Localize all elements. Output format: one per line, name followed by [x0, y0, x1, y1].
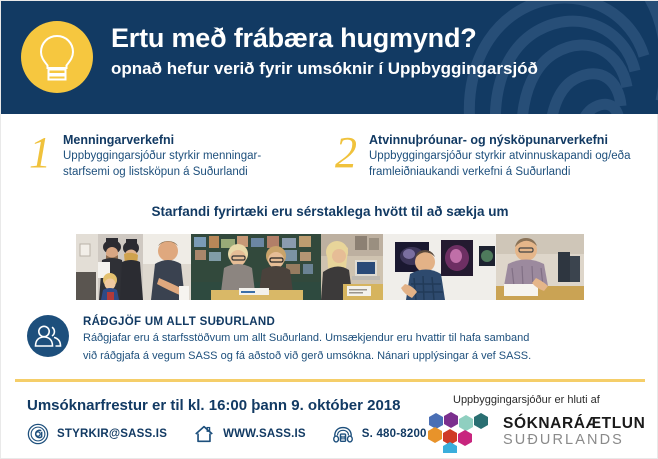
contact-phone[interactable]: S. 480-8200 [332, 423, 427, 445]
category-desc-line1: Uppbyggingarsjóður styrkir menningar- [63, 149, 261, 164]
at-sign-icon [27, 423, 49, 445]
advisory-section: RÁÐGJÖF UM ALLT SUÐURLAND Ráðgjafar eru … [27, 313, 627, 364]
category-item-menningarverkefni: 1 Menningarverkefni Uppbyggingarsjóður s… [29, 126, 329, 194]
partner-logo-block: Uppbyggingarsjóður er hluti af [427, 393, 637, 453]
advisory-line1: Ráðgjafar eru á starfsstöðvum um allt Su… [83, 331, 531, 346]
gold-divider [15, 379, 645, 382]
contact-row: STYRKIR@SASS.IS WWW.SASS.IS [27, 423, 453, 445]
logo-word-bottom: SUÐURLANDS [503, 432, 645, 449]
category-title: Atvinnuþróunar- og nýsköpunarverkefni [369, 132, 630, 148]
category-desc-line2: starfsemi og listsköpun á Suðurlandi [63, 165, 261, 180]
category-item-atvinnutroun: 2 Atvinnuþróunar- og nýsköpunarverkefni … [335, 126, 645, 194]
contact-website[interactable]: WWW.SASS.IS [193, 423, 306, 445]
header-title: Ertu með frábæra hugmynd? [111, 21, 651, 55]
category-number: 1 [29, 126, 63, 194]
contact-phone-label: S. 480-8200 [362, 428, 427, 440]
header-text-group: Ertu með frábæra hugmynd? opnað hefur ve… [111, 21, 651, 81]
advisory-line2: við ráðgjafa á vegum SASS og fá aðstoð v… [83, 349, 531, 364]
photo-family-with-certificate [76, 234, 143, 300]
category-number: 2 [335, 126, 369, 194]
category-columns: 1 Menningarverkefni Uppbyggingarsjóður s… [1, 126, 658, 194]
category-desc-line1: Uppbyggingarsjóður styrkir atvinnuskapan… [369, 149, 630, 164]
contact-email-label: STYRKIR@SASS.IS [57, 428, 167, 440]
advisory-badge [27, 315, 69, 357]
photo-strip [76, 234, 584, 300]
advisory-title: RÁÐGJÖF UM ALLT SUÐURLAND [83, 316, 531, 328]
two-people-icon [34, 324, 62, 348]
house-icon [193, 423, 215, 445]
footer-section: Umsóknarfrestur er til kl. 16:00 þann 9.… [1, 391, 658, 459]
contact-email[interactable]: STYRKIR@SASS.IS [27, 423, 167, 445]
contact-website-label: WWW.SASS.IS [223, 428, 306, 440]
logo-row: SÓKNARÁÆTLUN SUÐURLANDS [427, 411, 637, 453]
tagline-text: Starfandi fyrirtæki eru sérstaklega hvöt… [1, 204, 658, 219]
logo-kicker-text: Uppbyggingarsjóður er hluti af [453, 393, 637, 407]
logo-wordmark: SÓKNARÁÆTLUN SUÐURLANDS [503, 415, 645, 449]
poster-root: Ertu með frábæra hugmynd? opnað hefur ve… [0, 0, 658, 459]
advisory-body: RÁÐGJÖF UM ALLT SUÐURLAND Ráðgjafar eru … [83, 313, 531, 364]
deadline-text: Umsóknarfrestur er til kl. 16:00 þann 9.… [27, 397, 400, 414]
photo-woman-working-laptop [321, 234, 383, 300]
telephone-icon [332, 423, 354, 445]
lightbulb-badge [21, 21, 93, 93]
photo-man-standing [143, 234, 191, 300]
category-title: Menningarverkefni [63, 132, 261, 148]
header-subtitle: opnað hefur verið fyrir umsóknir í Uppby… [111, 57, 651, 81]
logo-word-top: SÓKNARÁÆTLUN [503, 415, 645, 432]
photo-man-signing-document [496, 234, 584, 300]
lightbulb-icon [37, 33, 77, 81]
category-desc-line2: framleiðniaukandi verkefni á Suðurlandi [369, 165, 630, 180]
photo-two-women-at-desk [191, 234, 321, 300]
header-banner: Ertu með frábæra hugmynd? opnað hefur ve… [1, 1, 658, 114]
hexagon-cluster-icon [427, 411, 493, 453]
photo-man-at-art-gallery [383, 234, 496, 300]
